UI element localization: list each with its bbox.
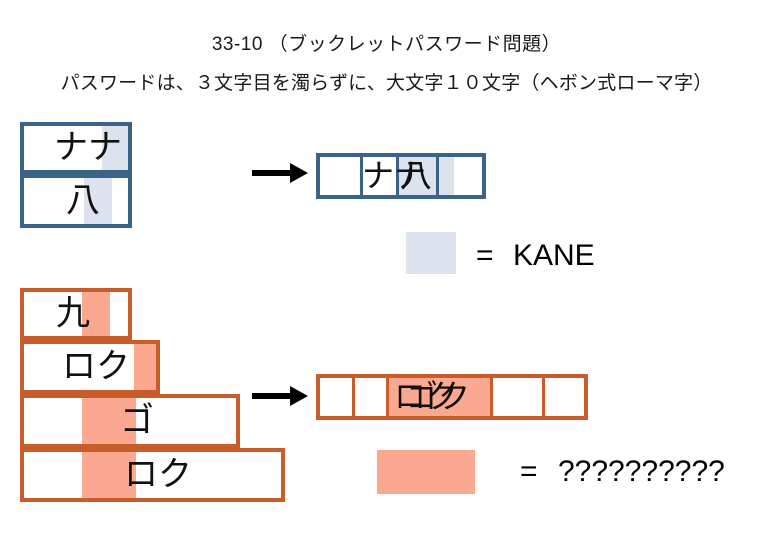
blue-result-box: ナナ 八 — [316, 153, 486, 199]
blue-strip-1-glyph: ナナ — [54, 130, 122, 164]
orange-strip-2-highlight — [134, 344, 160, 390]
orange-legend-equals: = — [520, 457, 538, 487]
orange-result-divider-1 — [352, 378, 355, 416]
orange-strip-2-glyph: ロク — [62, 349, 130, 383]
orange-legend-answer: ?????????? — [558, 457, 725, 487]
blue-strip-1: ナナ — [20, 122, 132, 174]
page-subtitle: パスワードは、３文字目を濁らずに、大文字１０文字（ヘボン式ローマ字） — [0, 68, 773, 95]
orange-result-divider-4 — [542, 378, 545, 416]
blue-legend-answer: KANE — [513, 241, 595, 271]
arrow-right-icon-top — [252, 162, 308, 189]
orange-result-glyph-3: ク — [438, 380, 470, 412]
blue-strip-2: 八 — [20, 174, 132, 228]
blue-legend-equals: = — [476, 241, 494, 271]
arrow-right-icon-bottom — [252, 385, 308, 412]
orange-result-divider-3 — [490, 378, 493, 416]
orange-strip-3-glyph: ゴ — [120, 403, 154, 437]
blue-strip-2-glyph: 八 — [66, 183, 100, 217]
orange-result-glyph-2: ゴ — [406, 380, 438, 412]
orange-strip-3: ゴ — [20, 394, 240, 448]
orange-legend-swatch — [377, 450, 475, 494]
orange-result-box: ロク ゴ ク — [316, 374, 588, 420]
blue-result-glyph-2: 八 — [400, 159, 432, 191]
orange-strip-1-glyph: 九 — [56, 296, 90, 330]
orange-strip-1: 九 — [20, 288, 132, 340]
blue-result-divider-3 — [436, 157, 439, 195]
orange-strip-4: ロク — [20, 448, 285, 502]
orange-result-divider-2 — [386, 378, 389, 416]
orange-strip-4-glyph: ロク — [124, 457, 192, 491]
orange-strip-2: ロク — [20, 340, 160, 394]
page-title: 33-10 （ブックレットパスワード問題） — [0, 29, 773, 56]
blue-legend-swatch — [406, 232, 456, 274]
